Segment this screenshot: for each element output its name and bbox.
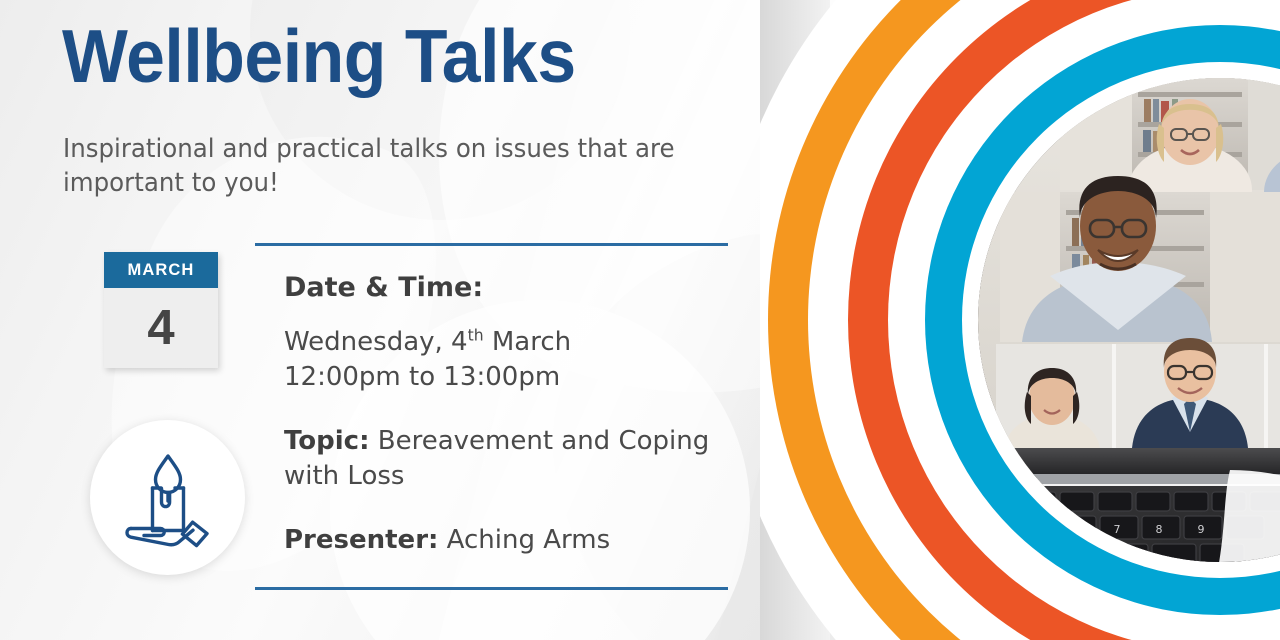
datetime-heading: Date & Time: — [284, 272, 724, 303]
calendar-month: MARCH — [104, 252, 218, 288]
event-presenter: Presenter: Aching Arms — [284, 523, 724, 558]
divider-top — [255, 243, 728, 246]
wellbeing-talks-poster: Wellbeing Talks Inspirational and practi… — [0, 0, 1280, 640]
topic-label: Topic: — [284, 426, 369, 456]
key-8: 8 — [1156, 523, 1163, 536]
event-time: 12:00pm to 13:00pm — [284, 360, 724, 395]
arc-graphic: 6 7 8 9 Y U G H B — [760, 0, 1280, 640]
event-date-ordinal: th — [468, 326, 484, 344]
event-date-suffix: March — [484, 327, 572, 357]
photo-tile-middle — [1000, 176, 1280, 342]
details-block: Date & Time: Wednesday, 4th March 12:00p… — [284, 272, 724, 558]
presenter-value: Aching Arms — [438, 525, 610, 555]
calendar-day: 4 — [104, 288, 218, 368]
event-date-prefix: Wednesday, 4 — [284, 327, 468, 357]
event-topic: Topic: Bereavement and Coping with Loss — [284, 424, 724, 493]
key-7: 7 — [1114, 523, 1121, 536]
page-subtitle: Inspirational and practical talks on iss… — [63, 133, 677, 201]
key-9: 9 — [1198, 523, 1205, 536]
candle-in-hand-icon — [114, 444, 222, 552]
arc-bands: 6 7 8 9 Y U G H B — [760, 0, 1280, 640]
candle-badge — [90, 420, 245, 575]
calendar-chip: MARCH 4 — [104, 252, 218, 368]
presenter-label: Presenter: — [284, 525, 438, 555]
divider-bottom — [255, 587, 728, 590]
event-date: Wednesday, 4th March — [284, 325, 724, 360]
page-title: Wellbeing Talks — [62, 18, 576, 95]
